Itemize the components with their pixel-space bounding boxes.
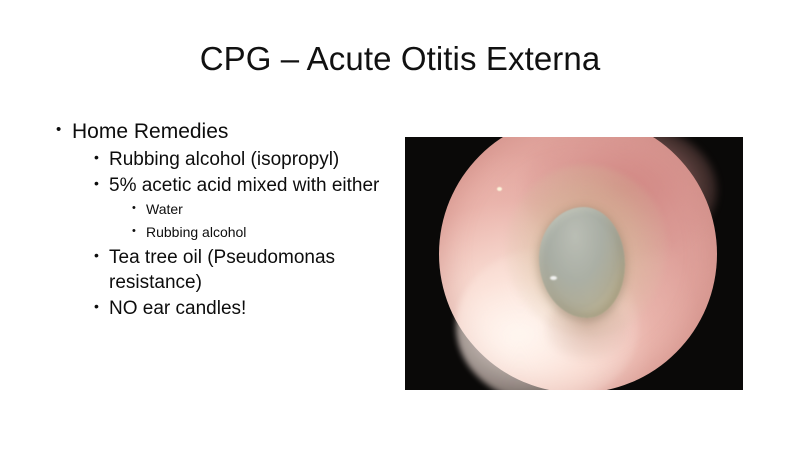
list-item-label: Water (146, 199, 386, 220)
bullet-marker-icon: • (132, 199, 146, 219)
bullet-list: • Home Remedies • Rubbing alcohol (isopr… (56, 118, 386, 322)
list-item-label: 5% acetic acid mixed with either (109, 173, 386, 198)
list-item-label: Rubbing alcohol (isopropyl) (109, 147, 386, 172)
bullet-marker-icon: • (94, 245, 109, 266)
list-item: • Water (132, 199, 386, 220)
ear-canal-field-of-view (439, 137, 717, 390)
list-item: • Tea tree oil (Pseudomonas resistance) (94, 245, 386, 295)
canal-wall-specular-glint (497, 187, 502, 191)
bullet-marker-icon: • (132, 222, 146, 242)
bullet-marker-icon: • (56, 118, 72, 141)
bullet-marker-icon: • (94, 147, 109, 168)
list-item-label: Home Remedies (72, 118, 386, 146)
otoscopy-photo (405, 137, 743, 390)
mass-specular-highlight (550, 276, 557, 280)
list-item: • 5% acetic acid mixed with either (94, 173, 386, 198)
list-item: • NO ear candles! (94, 296, 386, 321)
page-title: CPG – Acute Otitis Externa (0, 40, 800, 78)
list-item: • Rubbing alcohol (132, 222, 386, 243)
otoscopy-image-frame (403, 135, 745, 392)
slide-canvas: CPG – Acute Otitis Externa • Home Remedi… (0, 0, 800, 450)
bullet-marker-icon: • (94, 296, 109, 317)
list-item-label: NO ear candles! (109, 296, 386, 321)
list-item: • Home Remedies (56, 118, 386, 146)
bullet-marker-icon: • (94, 173, 109, 194)
list-item-label: Rubbing alcohol (146, 222, 386, 243)
list-item-label: Tea tree oil (Pseudomonas resistance) (109, 245, 386, 295)
list-item: • Rubbing alcohol (isopropyl) (94, 147, 386, 172)
